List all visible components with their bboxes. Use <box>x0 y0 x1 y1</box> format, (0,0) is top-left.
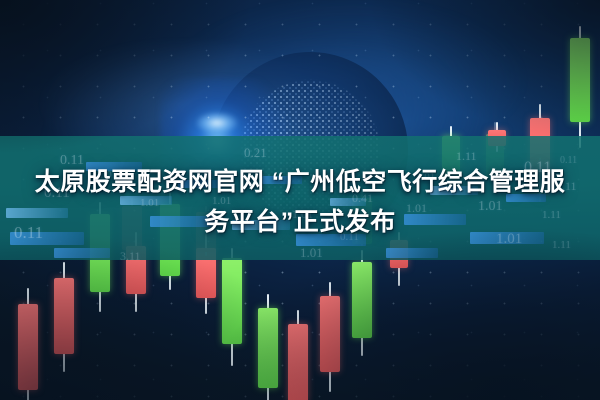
headline-line-2: 务平台”正式发布 <box>18 202 582 242</box>
page-title: 太原股票配资网官网 “广州低空飞行综合管理服 务平台”正式发布 <box>0 162 600 242</box>
headline-line-1: 太原股票配资网官网 “广州低空飞行综合管理服 <box>35 168 565 196</box>
banner-image: 0.110.111.011.010.111.011.010.211.010.41… <box>0 0 600 400</box>
